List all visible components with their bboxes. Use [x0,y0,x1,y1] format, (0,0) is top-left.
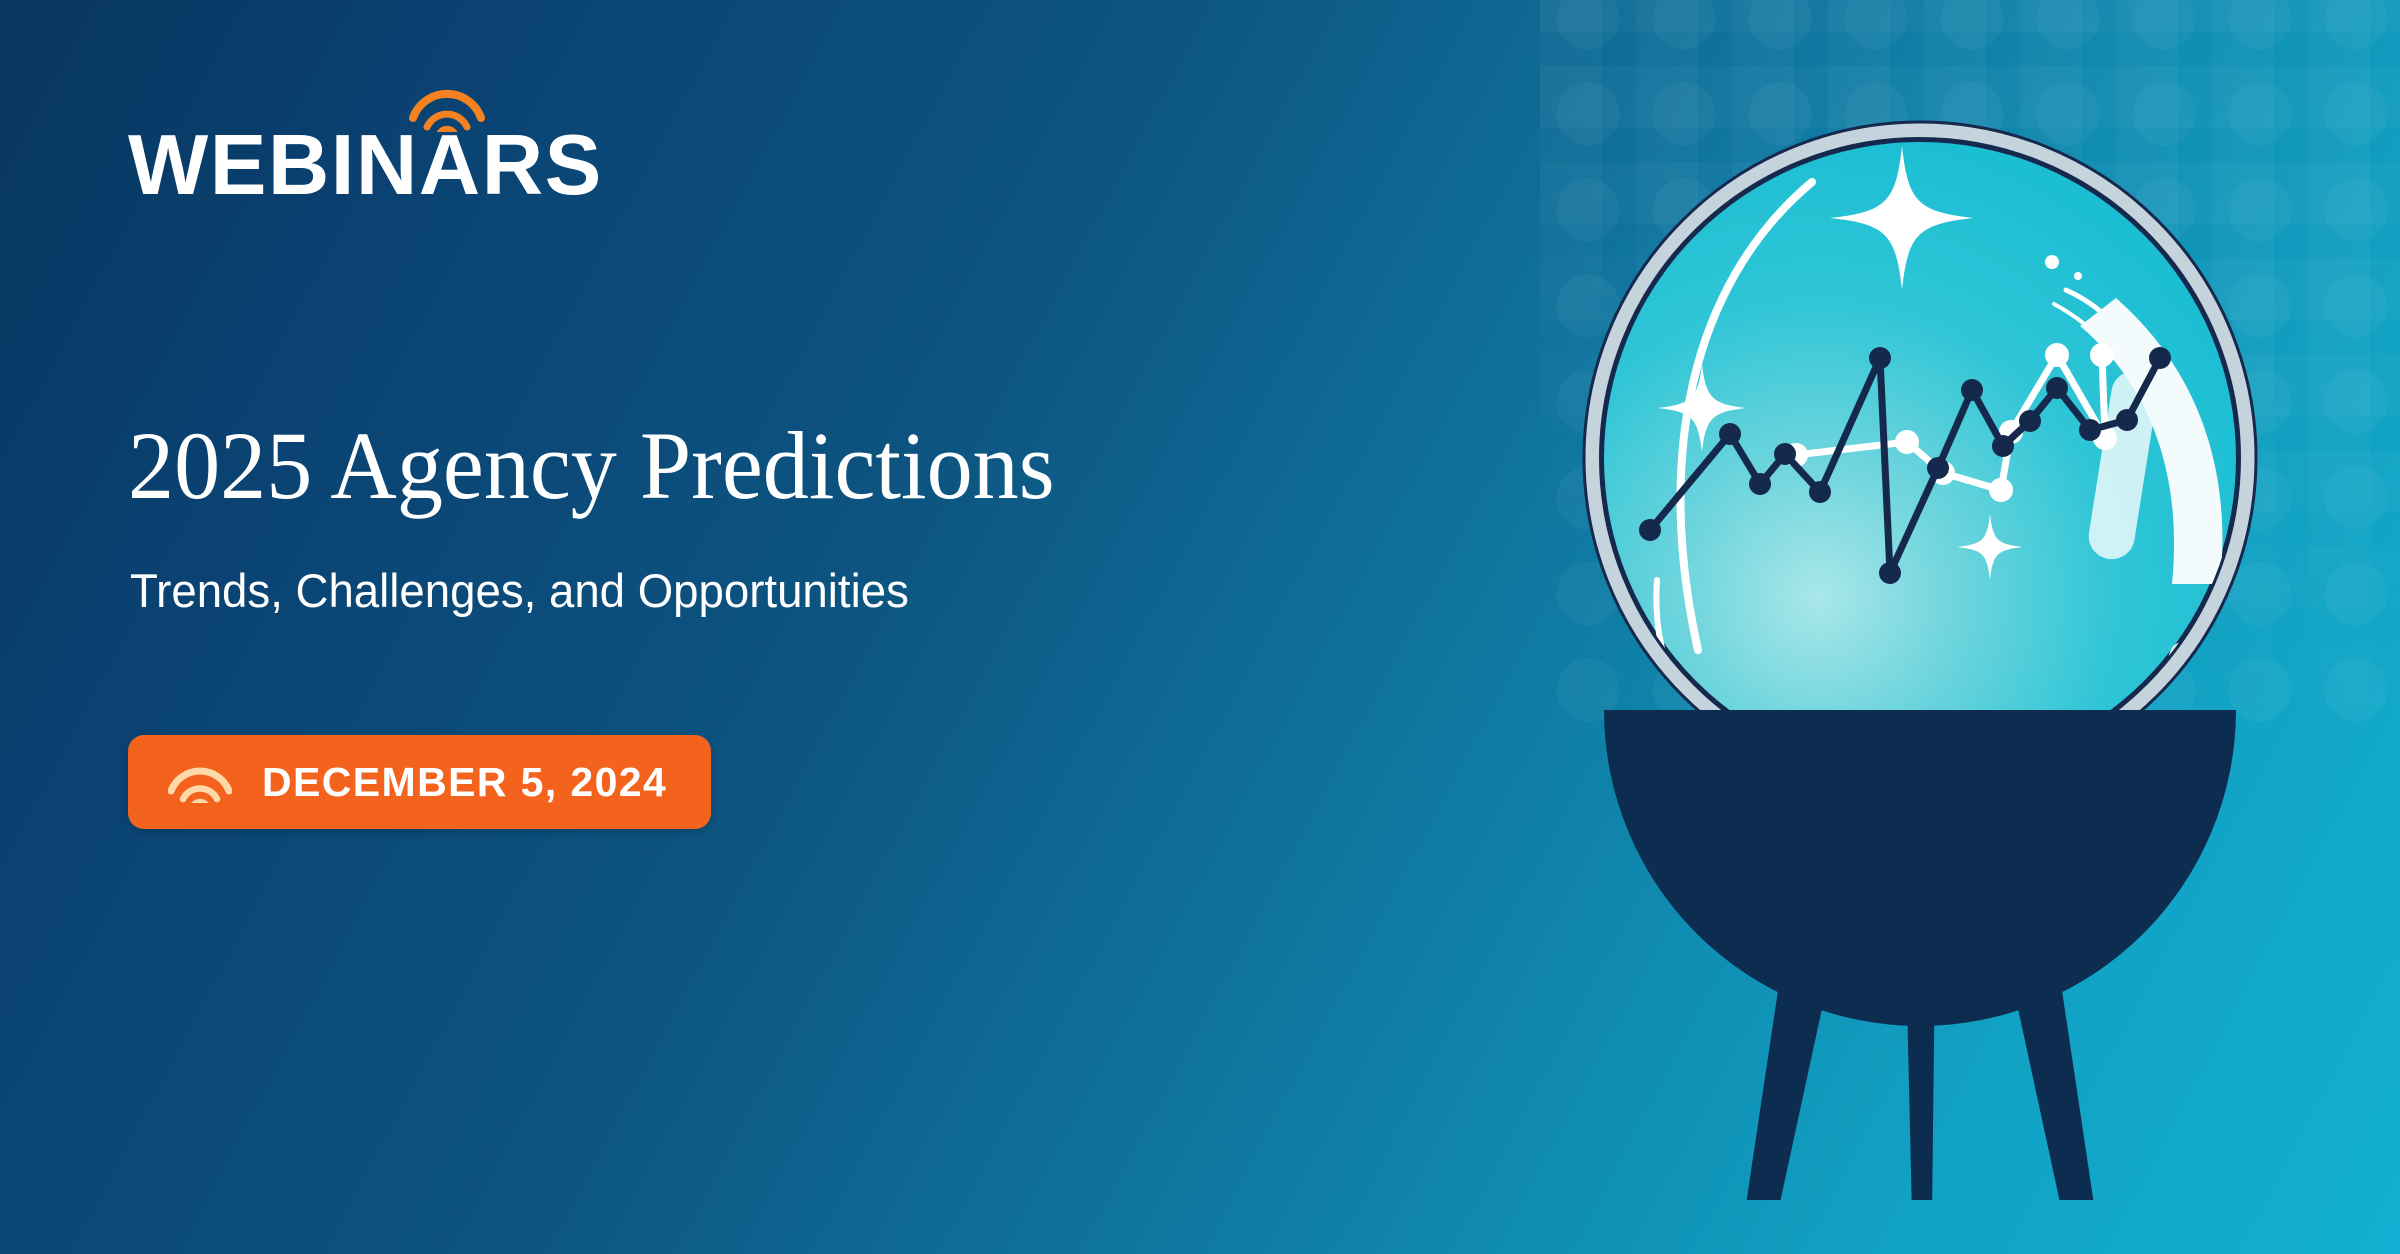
webinar-date-label: DECEMBER 5, 2024 [262,759,667,806]
webinars-logo: WEBINARS [128,126,603,207]
stand-leg-center [1904,872,1936,1200]
webinar-date-button[interactable]: DECEMBER 5, 2024 [128,735,711,829]
logo-wordmark: WEBINARS [128,126,603,207]
wifi-signal-icon [168,761,232,803]
orb-speck [2074,272,2082,280]
webinar-promo-banner: WEBINARS 2025 Agency Predictions Trends,… [0,0,2400,1254]
page-title: 2025 Agency Predictions [128,415,1055,517]
crystal-ball-illustration [1560,90,2280,1200]
wifi-signal-icon [409,84,485,132]
crystal-ball-stand [1604,710,2236,1200]
orb-speck [2045,255,2059,269]
page-subtitle: Trends, Challenges, and Opportunities [130,563,909,619]
